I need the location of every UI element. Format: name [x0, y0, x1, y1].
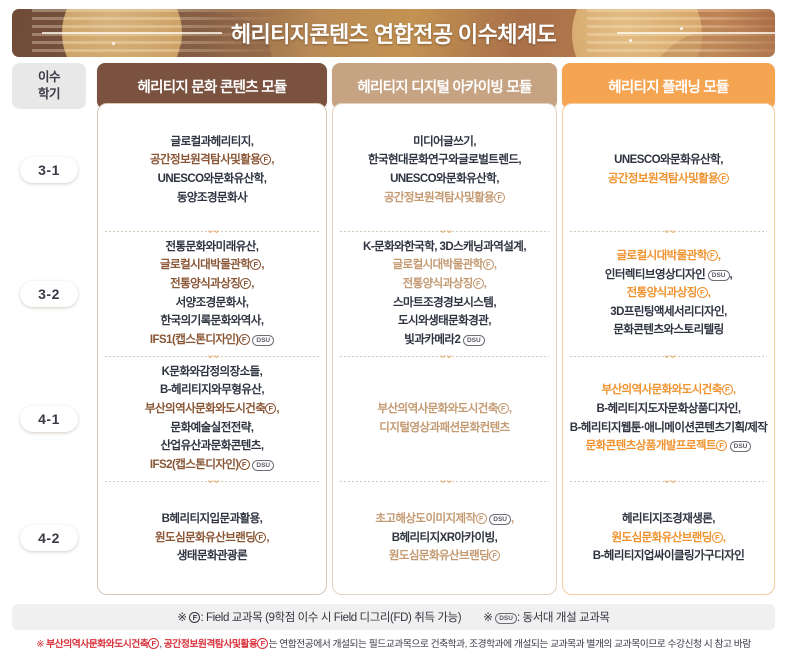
- course-line: 도시와생태문화경관,: [398, 312, 491, 331]
- dsu-icon: DSU: [708, 270, 730, 281]
- semester-row: 4-2B헤리티지입문과활용,원도심문화유산브랜딩F,생태문화관광론초고해상도이미…: [12, 481, 775, 595]
- course-cell: 초고해상도이미지제작F DSU,B헤리티지XR아카이빙,원도심문화유산브랜딩F: [332, 481, 557, 595]
- legend-field: ※ F: Field 교과목 (9학점 이수 시 Field 디그리(FD) 취…: [177, 609, 461, 625]
- course-cell: 글로컬과헤리티지,공간정보원격탐사및활용F,UNESCO와문화유산학,동양조경문…: [97, 109, 327, 231]
- flow-chevron-icon: ⌄⌄: [661, 226, 677, 235]
- course-line: 공간정보원격탐사및활용F: [608, 170, 729, 189]
- field-icon: F: [473, 278, 484, 289]
- course-line: 문화콘텐츠와스토리텔링: [613, 321, 723, 340]
- course-line: 글로컬시대박물관학F,: [393, 256, 497, 275]
- course-line: 글로컬시대박물관학F,: [617, 247, 721, 266]
- course-line: 동양조경문화사: [177, 189, 247, 208]
- legend-dsu-text: : 동서대 개설 교과목: [517, 612, 610, 624]
- semester-badge: 3-2: [20, 281, 78, 307]
- course-line: 원도심문화유산브랜딩F,: [155, 529, 269, 548]
- field-icon: F: [240, 278, 251, 289]
- flow-chevron-icon: ⌄⌄: [204, 226, 220, 235]
- course-cell: 부산의역사문화와도시건축F,디지털영상과패션문화컨텐츠: [332, 356, 557, 481]
- course-line: 글로컬과헤리티지,: [171, 133, 254, 152]
- semester-label-line1: 이수: [38, 69, 60, 86]
- course-line: 부산의역사문화와도시건축F,: [145, 400, 279, 419]
- flow-chevron-icon: ⌄⌄: [204, 351, 220, 360]
- course-cell: 헤리티지조경재생론,원도심문화유산브랜딩F,B-헤리티지업싸이클링가구디자인: [562, 481, 775, 595]
- course-line: IFS1(캡스톤디자인)F DSU: [150, 331, 274, 350]
- flow-chevron-icon: ⌄⌄: [661, 351, 677, 360]
- course-line: K문화와감정의장소들,: [162, 363, 263, 382]
- footnote-star: ※: [36, 639, 44, 650]
- flow-chevron-icon: ⌄⌄: [661, 476, 677, 485]
- semester-label-line2: 학기: [38, 86, 60, 103]
- course-line: 공간정보원격탐사및활용F,: [150, 151, 274, 170]
- field-icon: F: [250, 259, 261, 270]
- legend-bar: ※ F: Field 교과목 (9학점 이수 시 Field 디그리(FD) 취…: [12, 604, 775, 630]
- course-line: 빛과카메라2 DSU: [404, 331, 484, 350]
- flow-chevron-icon: ⌄⌄: [437, 351, 453, 360]
- flow-chevron-icon: ⌄⌄: [437, 226, 453, 235]
- course-cell: K-문화와한국학, 3D스캐닝과역설계,글로컬시대박물관학F,전통양식과상징F,…: [332, 231, 557, 356]
- dsu-icon: DSU: [252, 335, 274, 346]
- footnote-course-2: 공간정보원격탐사및활용: [164, 639, 258, 650]
- course-line: 글로컬시대박물관학F,: [160, 256, 264, 275]
- course-line: B-헤리티지와무형유산,: [160, 381, 264, 400]
- course-line: 한국현대문화연구와글로벌트렌드,: [368, 151, 521, 170]
- course-cell: B헤리티지입문과활용,원도심문화유산브랜딩F,생태문화관광론: [97, 481, 327, 595]
- course-line: 문화콘텐츠상품개발프로젝트F DSU: [586, 437, 752, 456]
- legend-dsu: ※ DSU: 동서대 개설 교과목: [483, 609, 609, 625]
- course-line: 문화예술실전전략,: [171, 419, 254, 438]
- field-icon: F: [239, 334, 250, 345]
- dsu-icon: DSU: [495, 613, 517, 624]
- footnote-rest: 는 연합전공에서 개설되는 필드교과목으로 건축학과, 조경학과에 개설되는 교…: [268, 639, 750, 650]
- course-cell: 글로컬시대박물관학F,인터렉티브영상디자인 DSU,전통양식과상징F,3D프린팅…: [562, 231, 775, 356]
- course-line: 산업유산과문화콘텐츠,: [161, 437, 264, 456]
- page-title: 헤리티지콘텐츠 연합전공 이수체계도: [12, 9, 775, 57]
- footnote-course-1: 부산의역사문화와도시건축: [46, 639, 148, 650]
- curriculum-diagram: 헤리티지콘텐츠 연합전공 이수체계도 이수 학기 헤리티지 문화 콘텐츠 모듈 …: [0, 0, 787, 658]
- field-icon: F: [494, 192, 505, 203]
- semester-badge: 4-1: [20, 406, 78, 432]
- field-icon: F: [718, 173, 729, 184]
- course-line: 스마트조경경보시스템,: [393, 294, 496, 313]
- course-line: UNESCO와문화유산학,: [158, 170, 267, 189]
- course-line: UNESCO와문화유산학,: [614, 151, 723, 170]
- legend-star-1: ※: [177, 612, 186, 624]
- field-icon: F: [697, 287, 708, 298]
- field-icon: F: [239, 459, 250, 470]
- curriculum-grid: 3-1글로컬과헤리티지,공간정보원격탐사및활용F,UNESCO와문화유산학,동양…: [12, 109, 775, 595]
- field-icon: F: [189, 612, 200, 623]
- course-line: 부산의역사문화와도시건축F,: [377, 400, 511, 419]
- footnote: ※ 부산의역사문화와도시건축F, 공간정보원격탐사및활용F는 연합전공에서 개설…: [12, 636, 775, 650]
- semester-row: 4-1K문화와감정의장소들,B-헤리티지와무형유산,부산의역사문화와도시건축F,…: [12, 356, 775, 481]
- field-icon: F: [712, 532, 723, 543]
- semester-badge: 4-2: [20, 525, 78, 551]
- course-line: 헤리티지조경재생론,: [622, 510, 715, 529]
- course-line: 원도심문화유산브랜딩F: [389, 547, 500, 566]
- footnote-field-icon-1: F: [148, 638, 159, 649]
- course-line: 원도심문화유산브랜딩F,: [612, 529, 726, 548]
- field-icon: F: [483, 259, 494, 270]
- course-line: UNESCO와문화유산학,: [390, 170, 499, 189]
- course-line: 공간정보원격탐사및활용F: [384, 189, 505, 208]
- course-line: 3D프린팅액세서리디자인,: [610, 303, 727, 322]
- course-line: 인터렉티브영상디자인 DSU,: [605, 266, 732, 285]
- flow-chevron-icon: ⌄⌄: [437, 476, 453, 485]
- course-cell: 부산의역사문화와도시건축F,B-헤리티지도자문화상품디자인,B-헤리티지웹툰·애…: [562, 356, 775, 481]
- course-line: B헤리티지입문과활용,: [162, 510, 263, 529]
- course-line: 서양조경문화사,: [176, 294, 249, 313]
- field-icon: F: [498, 403, 509, 414]
- field-icon: F: [260, 154, 271, 165]
- course-line: 초고해상도이미지제작F DSU,: [375, 510, 513, 529]
- course-line: 디지털영상과패션문화컨텐츠: [379, 419, 509, 438]
- course-line: 생태문화관광론: [177, 547, 247, 566]
- course-line: B-헤리티지도자문화상품디자인,: [596, 400, 740, 419]
- semester-row: 3-1글로컬과헤리티지,공간정보원격탐사및활용F,UNESCO와문화유산학,동양…: [12, 109, 775, 231]
- course-line: K-문화와한국학, 3D스캐닝과역설계,: [363, 238, 526, 257]
- course-line: 전통양식과상징F,: [403, 275, 487, 294]
- page-banner: 헤리티지콘텐츠 연합전공 이수체계도: [12, 9, 775, 57]
- field-icon: F: [255, 532, 266, 543]
- course-cell: UNESCO와문화유산학,공간정보원격탐사및활용F: [562, 109, 775, 231]
- dsu-icon: DSU: [489, 514, 511, 525]
- field-icon: F: [476, 513, 487, 524]
- field-icon: F: [722, 384, 733, 395]
- course-line: 부산의역사문화와도시건축F,: [601, 381, 735, 400]
- dsu-icon: DSU: [730, 441, 752, 452]
- course-line: B-헤리티지업싸이클링가구디자인: [593, 547, 744, 566]
- semester-badge: 3-1: [20, 157, 78, 183]
- course-line: B헤리티지XR아카이빙,: [392, 529, 498, 548]
- semester-row: 3-2전통문화와미래유산,글로컬시대박물관학F,전통양식과상징F,서양조경문화사…: [12, 231, 775, 356]
- course-line: B-헤리티지웹툰·애니메이션콘텐츠기획/제작: [570, 419, 768, 438]
- legend-star-2: ※: [483, 612, 492, 624]
- legend-field-text: : Field 교과목 (9학점 이수 시 Field 디그리(FD) 취득 가…: [200, 612, 461, 624]
- course-cell: K문화와감정의장소들,B-헤리티지와무형유산,부산의역사문화와도시건축F,문화예…: [97, 356, 327, 481]
- field-icon: F: [489, 550, 500, 561]
- field-icon: F: [716, 440, 727, 451]
- semester-column-label: 이수 학기: [12, 63, 86, 109]
- dsu-icon: DSU: [252, 460, 274, 471]
- course-cell: 전통문화와미래유산,글로컬시대박물관학F,전통양식과상징F,서양조경문화사,한국…: [97, 231, 327, 356]
- footnote-field-icon-2: F: [257, 638, 268, 649]
- course-line: 한국의기록문화와역사,: [161, 312, 264, 331]
- course-line: IFS2(캡스톤디자인)F DSU: [150, 456, 274, 475]
- course-line: 전통문화와미래유산,: [166, 238, 259, 257]
- course-line: 전통양식과상징F,: [170, 275, 254, 294]
- flow-chevron-icon: ⌄⌄: [204, 476, 220, 485]
- field-icon: F: [265, 403, 276, 414]
- field-icon: F: [707, 250, 718, 261]
- course-line: 전통양식과상징F,: [627, 284, 711, 303]
- dsu-icon: DSU: [463, 335, 485, 346]
- course-line: 미디어글쓰기,: [413, 133, 476, 152]
- course-cell: 미디어글쓰기,한국현대문화연구와글로벌트렌드,UNESCO와문화유산학,공간정보…: [332, 109, 557, 231]
